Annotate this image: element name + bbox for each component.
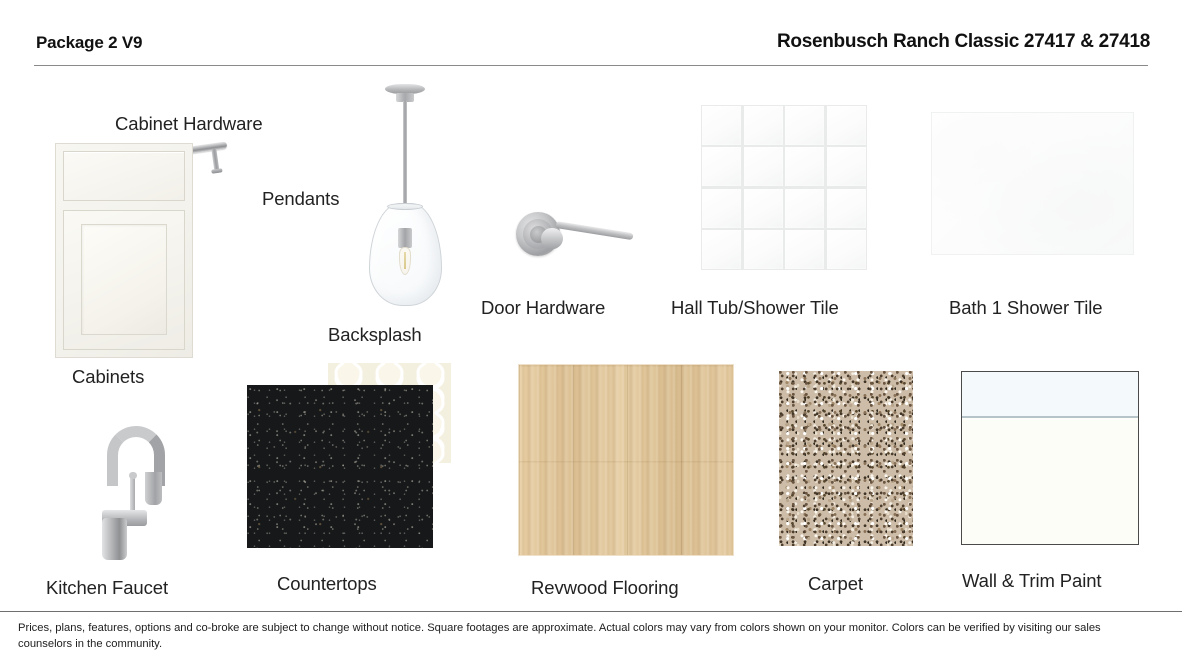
faucet-handle bbox=[130, 475, 135, 515]
cabinet-door-frame bbox=[63, 210, 185, 350]
tile-cell bbox=[827, 189, 866, 228]
door-lever-base bbox=[541, 228, 563, 249]
trim-paint-band bbox=[962, 372, 1138, 418]
carpet-swatch bbox=[779, 371, 913, 546]
tile-cell bbox=[827, 147, 866, 186]
pendant-stem bbox=[403, 101, 407, 209]
tile-cell bbox=[785, 189, 824, 228]
tile-cell bbox=[785, 147, 824, 186]
countertops-swatch bbox=[247, 385, 433, 548]
label-countertops: Countertops bbox=[277, 573, 377, 595]
label-pendants: Pendants bbox=[262, 188, 339, 210]
faucet-base bbox=[102, 518, 127, 560]
tile-cell bbox=[744, 147, 783, 186]
bar-pull-foot-right bbox=[211, 168, 222, 173]
header-divider bbox=[34, 65, 1148, 66]
tile-cell bbox=[785, 230, 824, 269]
label-wall-trim-paint: Wall & Trim Paint bbox=[962, 570, 1101, 592]
label-carpet: Carpet bbox=[808, 573, 863, 595]
revwood-flooring-swatch bbox=[518, 364, 734, 556]
footer-divider bbox=[0, 611, 1182, 612]
page-header: Package 2 V9 Rosenbusch Ranch Classic 27… bbox=[0, 0, 1182, 67]
tile-cell bbox=[744, 106, 783, 145]
pendant-glass-rim bbox=[387, 203, 423, 210]
label-door-hardware: Door Hardware bbox=[481, 297, 605, 319]
tile-cell bbox=[744, 230, 783, 269]
legal-disclaimer: Prices, plans, features, options and co-… bbox=[18, 620, 1143, 652]
label-bath-1-shower-tile: Bath 1 Shower Tile bbox=[949, 297, 1102, 319]
label-cabinet-hardware: Cabinet Hardware bbox=[115, 113, 263, 135]
tile-cell bbox=[702, 189, 741, 228]
wall-paint-body bbox=[962, 420, 1138, 544]
tile-cell bbox=[785, 106, 824, 145]
label-hall-tub-shower-tile: Hall Tub/Shower Tile bbox=[671, 297, 839, 319]
door-hardware-swatch bbox=[516, 207, 634, 261]
faucet-handle-cap bbox=[129, 472, 137, 479]
tile-cell bbox=[702, 106, 741, 145]
pendants-swatch bbox=[363, 84, 448, 304]
package-title: Package 2 V9 bbox=[36, 33, 142, 53]
tile-cell bbox=[702, 147, 741, 186]
tile-cell bbox=[827, 230, 866, 269]
kitchen-faucet-swatch bbox=[85, 410, 190, 560]
pendant-filament bbox=[404, 252, 406, 269]
tile-cell bbox=[744, 189, 783, 228]
door-lever-arm bbox=[555, 221, 633, 240]
cabinet-door-panel bbox=[81, 224, 167, 335]
hall-tub-shower-tile-swatch bbox=[701, 105, 867, 270]
label-kitchen-faucet: Kitchen Faucet bbox=[46, 577, 168, 599]
tile-cell bbox=[827, 106, 866, 145]
pendant-socket bbox=[398, 228, 412, 248]
wall-trim-paint-swatch bbox=[961, 371, 1139, 545]
cabinets-swatch bbox=[55, 143, 193, 358]
community-title: Rosenbusch Ranch Classic 27417 & 27418 bbox=[777, 31, 1150, 53]
label-revwood-flooring: Revwood Flooring bbox=[531, 577, 679, 599]
cabinet-drawer-front bbox=[63, 151, 185, 201]
label-cabinets: Cabinets bbox=[72, 366, 144, 388]
label-backsplash: Backsplash bbox=[328, 324, 422, 346]
tile-cell bbox=[702, 230, 741, 269]
bath-1-shower-tile-swatch bbox=[931, 112, 1134, 255]
faucet-spout bbox=[145, 472, 162, 505]
